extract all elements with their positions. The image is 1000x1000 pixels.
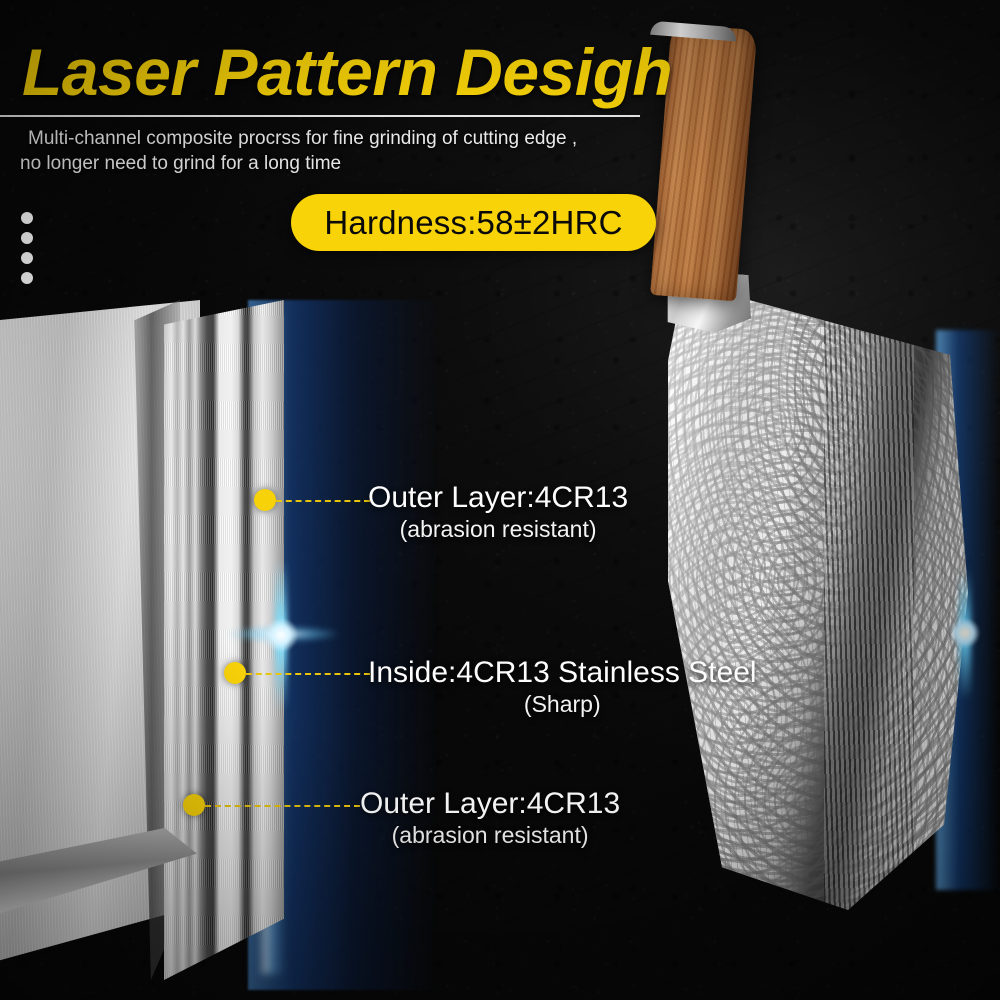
- subtitle-block: Multi-channel composite procrss for fine…: [20, 126, 660, 176]
- decor-dot-1: [21, 212, 33, 224]
- callout-bullet-icon: [254, 489, 276, 511]
- decor-dot-3: [21, 252, 33, 264]
- decor-dot-4: [21, 272, 33, 284]
- product-poster: Laser Pattern Desigh Multi-channel compo…: [0, 0, 1000, 1000]
- callout-leader-line: [246, 673, 370, 675]
- hardness-badge: Hardness:58±2HRC: [291, 194, 656, 251]
- page-title: Laser Pattern Desigh: [22, 34, 672, 110]
- callout-main-label: Outer Layer:4CR13: [368, 481, 628, 515]
- callout-main-label: Inside:4CR13 Stainless Steel: [368, 656, 757, 690]
- title-divider: [0, 115, 640, 117]
- callout-main-label: Outer Layer:4CR13: [360, 787, 620, 821]
- blade-ripple-bands: [824, 300, 914, 910]
- decorative-dot-column: [21, 212, 33, 284]
- callout-bullet-icon: [183, 794, 205, 816]
- callout-leader-line: [205, 805, 360, 807]
- callout-sub-label: (Sharp): [368, 690, 757, 718]
- callout-bullet-icon: [224, 662, 246, 684]
- callout-sub-label: (abrasion resistant): [360, 821, 620, 849]
- callout-leader-line: [276, 500, 370, 502]
- decor-dot-2: [21, 232, 33, 244]
- knife-blade: [668, 300, 968, 910]
- callout-sub-label: (abrasion resistant): [368, 515, 628, 543]
- subtitle-line-1: Multi-channel composite procrss for fine…: [20, 126, 660, 151]
- subtitle-line-2: no longer need to grind for a long time: [20, 151, 660, 176]
- blade-highlight: [668, 300, 794, 910]
